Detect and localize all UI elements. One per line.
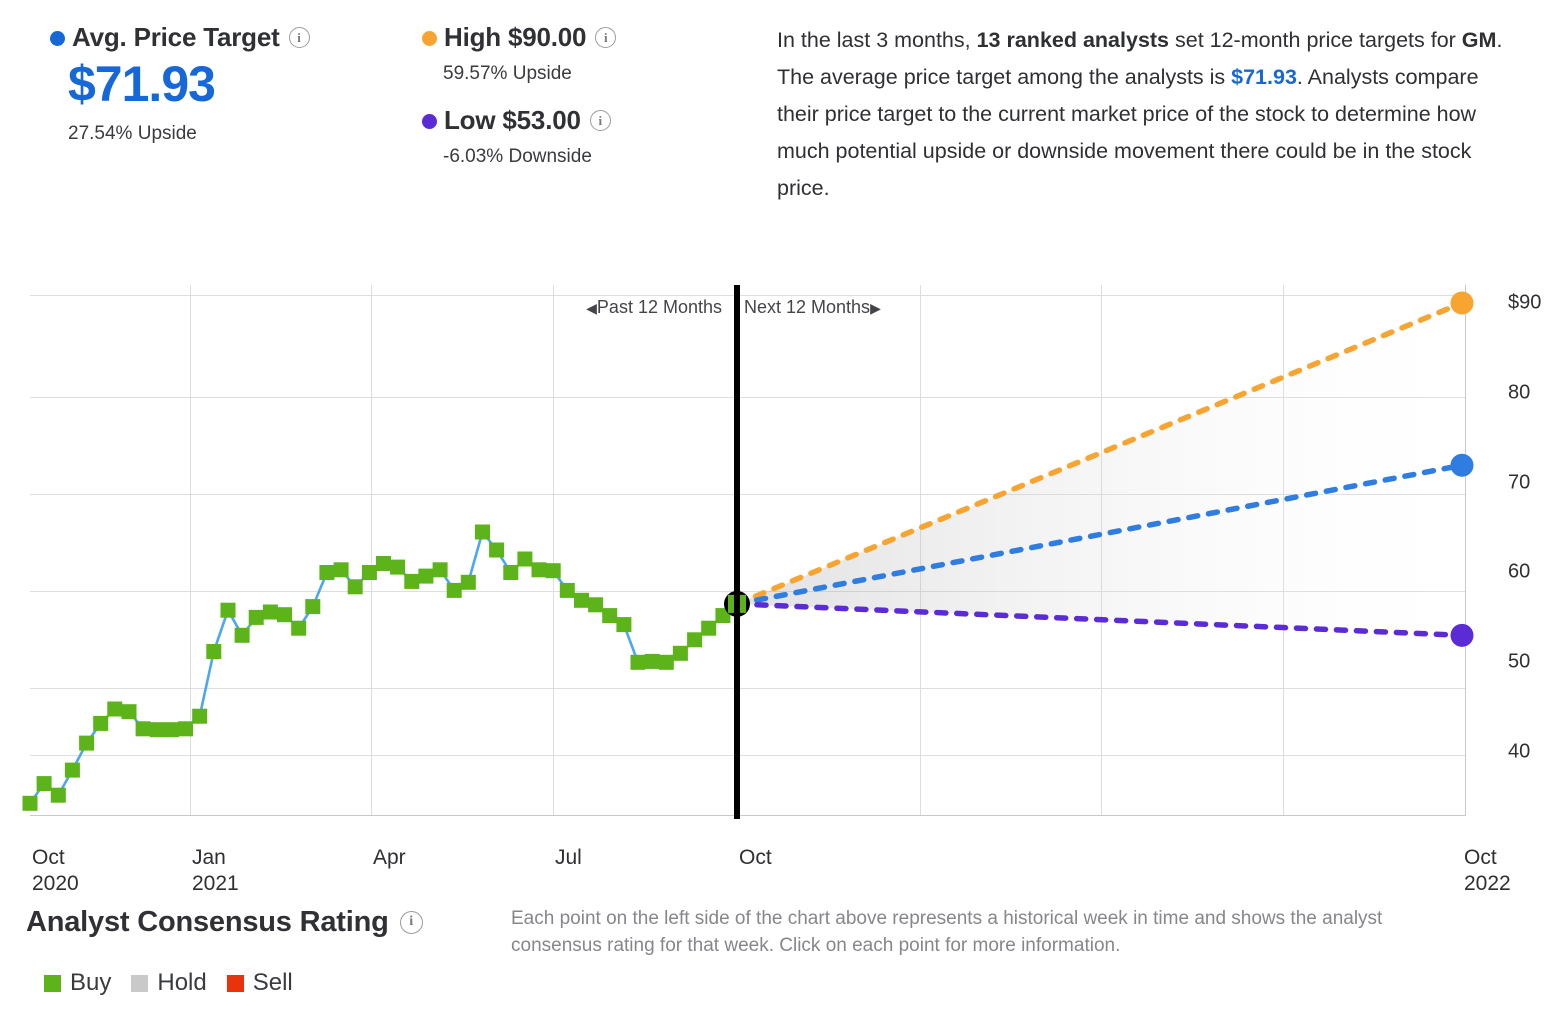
historical-point: [404, 574, 419, 589]
x-axis-tick-year: 2020: [32, 871, 79, 897]
avg-price-target-value: $71.93: [68, 59, 310, 109]
historical-point: [687, 632, 702, 647]
avg-price-target-block: Avg. Price Target i $71.93 27.54% Upside: [50, 22, 310, 145]
historical-point: [546, 563, 561, 578]
historical-point: [65, 763, 80, 778]
legend-item-hold: Hold: [131, 969, 206, 997]
historical-point: [376, 556, 391, 571]
desc-part2: set 12-month price targets for: [1169, 28, 1462, 52]
y-axis-tick: 60: [1508, 561, 1530, 584]
past-label-text: Past 12 Months: [597, 297, 722, 317]
historical-point: [390, 560, 405, 575]
historical-point: [37, 776, 52, 791]
historical-point: [532, 562, 547, 577]
info-icon[interactable]: i: [289, 27, 310, 48]
x-axis-tick-month: Jul: [555, 845, 582, 871]
info-icon-glyph: i: [409, 915, 413, 929]
historical-point: [291, 621, 306, 636]
historical-point: [433, 562, 448, 577]
analyst-consensus-section: Analyst Consensus Rating i Buy Hold Sell…: [0, 895, 1557, 1019]
historical-point: [51, 788, 66, 803]
legend-label-sell: Sell: [253, 969, 293, 997]
x-axis-tick-month: Apr: [373, 845, 406, 871]
avg-price-target-label: Avg. Price Target: [72, 22, 280, 53]
historical-point: [631, 655, 646, 670]
high-price-target-upside: 59.57% Upside: [443, 63, 616, 85]
historical-point: [418, 569, 433, 584]
next-label-text: Next 12 Months: [744, 297, 870, 317]
historical-point: [461, 575, 476, 590]
historical-point: [79, 736, 94, 751]
today-divider: [734, 285, 740, 819]
x-axis-tick-year: 2021: [192, 871, 239, 897]
chart-series-svg: [30, 285, 1466, 815]
historical-point: [107, 702, 122, 717]
chart-plot-area[interactable]: ◀Past 12 Months Next 12 Months▶ $9080706…: [30, 285, 1466, 815]
historical-point: [206, 644, 221, 659]
x-axis-tick-month: Jan: [192, 845, 239, 871]
historical-point: [475, 525, 490, 540]
sell-swatch: [227, 975, 244, 992]
historical-point: [305, 599, 320, 614]
info-icon[interactable]: i: [595, 27, 616, 48]
y-axis-tick: $90: [1508, 291, 1541, 314]
avg-legend-dot: [50, 31, 65, 46]
forecast-endpoint-high: [1451, 291, 1474, 314]
historical-point: [136, 721, 151, 736]
historical-point: [192, 709, 207, 724]
y-axis-tick: 50: [1508, 651, 1530, 674]
info-icon[interactable]: i: [590, 110, 611, 131]
x-axis-tick: Jul: [555, 845, 582, 871]
historical-point: [319, 565, 334, 580]
price-target-summary: Avg. Price Target i $71.93 27.54% Upside…: [0, 0, 1557, 260]
historical-point: [235, 628, 250, 643]
info-icon-glyph: i: [598, 114, 602, 127]
price-target-description: In the last 3 months, 13 ranked analysts…: [777, 22, 1517, 207]
historical-point: [560, 583, 575, 598]
high-low-block: High $90.00 i 59.57% Upside Low $53.00 i…: [422, 22, 616, 168]
historical-point: [348, 579, 363, 594]
historical-point: [362, 565, 377, 580]
hold-swatch: [131, 975, 148, 992]
info-icon[interactable]: i: [400, 911, 423, 934]
low-price-target-label: Low $53.00: [444, 105, 581, 136]
buy-swatch: [44, 975, 61, 992]
desc-part1: In the last 3 months,: [777, 28, 977, 52]
next-12-months-label[interactable]: Next 12 Months▶: [744, 297, 881, 318]
consensus-rating-title: Analyst Consensus Rating i: [26, 906, 423, 939]
historical-point: [659, 655, 674, 670]
avg-price-target-row: Avg. Price Target i: [50, 22, 310, 53]
high-price-target-row: High $90.00 i: [422, 22, 616, 53]
consensus-title-text: Analyst Consensus Rating: [26, 906, 389, 939]
historical-point: [588, 597, 603, 612]
historical-point: [447, 583, 462, 598]
y-axis-tick: 80: [1508, 381, 1530, 404]
consensus-rating-note: Each point on the left side of the chart…: [511, 905, 1411, 959]
x-axis-tick: Jan2021: [192, 845, 239, 897]
historical-point: [517, 552, 532, 567]
historical-point: [23, 796, 38, 811]
historical-point: [489, 543, 504, 558]
historical-point: [277, 607, 292, 622]
info-icon-glyph: i: [297, 31, 301, 44]
historical-point: [93, 716, 108, 731]
high-legend-dot: [422, 31, 437, 46]
historical-point: [616, 617, 631, 632]
forecast-endpoint-average: [1451, 454, 1474, 477]
high-price-target-label: High $90.00: [444, 22, 586, 53]
right-arrow-icon: ▶: [870, 300, 881, 316]
x-axis-tick-month: Oct: [739, 845, 772, 871]
low-price-target-row: Low $53.00 i: [422, 105, 616, 136]
historical-point: [701, 621, 716, 636]
historical-point: [673, 646, 688, 661]
historical-point: [178, 721, 193, 736]
consensus-rating-legend: Buy Hold Sell: [44, 969, 293, 997]
historical-point: [645, 654, 660, 669]
low-price-target-downside: -6.03% Downside: [443, 146, 616, 168]
x-axis-tick: Oct2022: [1464, 845, 1511, 897]
x-axis-tick-month: Oct: [32, 845, 79, 871]
x-axis-tick: Oct2020: [32, 845, 79, 897]
price-target-chart[interactable]: ◀Past 12 Months Next 12 Months▶ $9080706…: [0, 262, 1557, 882]
x-axis-tick-month: Oct: [1464, 845, 1511, 871]
historical-point: [122, 704, 137, 719]
historical-point: [602, 608, 617, 623]
historical-point: [249, 610, 264, 625]
historical-point: [263, 605, 278, 620]
legend-label-buy: Buy: [70, 969, 111, 997]
desc-avg-value: $71.93: [1231, 65, 1297, 89]
past-12-months-label[interactable]: ◀Past 12 Months: [586, 297, 722, 318]
legend-item-buy: Buy: [44, 969, 111, 997]
legend-item-sell: Sell: [227, 969, 293, 997]
historical-point: [574, 593, 589, 608]
x-axis-line: [30, 815, 1466, 816]
left-arrow-icon: ◀: [586, 300, 597, 316]
historical-point: [150, 722, 165, 737]
x-axis-tick-year: 2022: [1464, 871, 1511, 897]
forecast-endpoint-low: [1451, 624, 1474, 647]
x-axis-tick: Apr: [373, 845, 406, 871]
historical-point: [334, 562, 349, 577]
historical-point: [221, 603, 236, 618]
desc-analysts-count: 13 ranked analysts: [977, 28, 1169, 52]
y-axis-tick: 70: [1508, 471, 1530, 494]
y-axis-tick: 40: [1508, 741, 1530, 764]
avg-price-target-upside: 27.54% Upside: [68, 123, 310, 145]
desc-ticker: GM: [1462, 28, 1497, 52]
historical-point: [503, 565, 518, 580]
x-axis-tick: Oct: [739, 845, 772, 871]
info-icon-glyph: i: [604, 31, 608, 44]
low-legend-dot: [422, 114, 437, 129]
historical-point: [164, 722, 179, 737]
legend-label-hold: Hold: [157, 969, 206, 997]
